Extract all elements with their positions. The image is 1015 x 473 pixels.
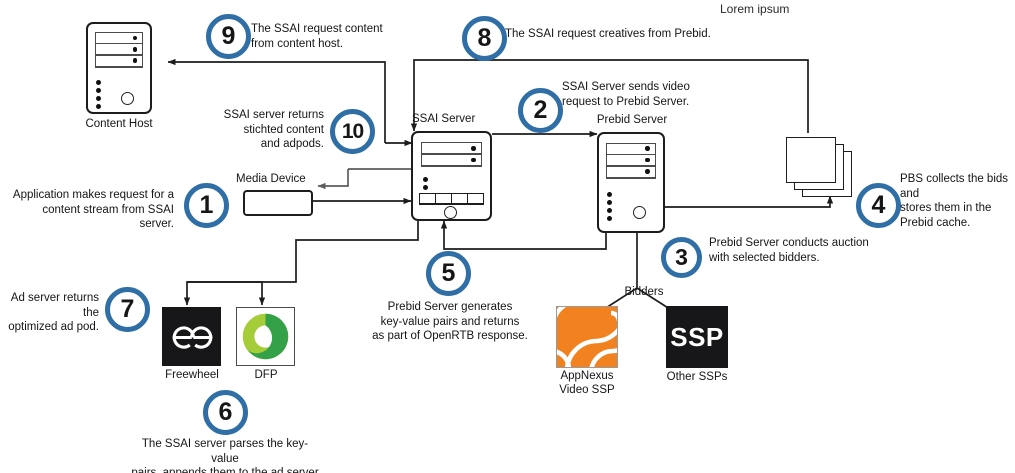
appnexus-mark: [557, 307, 618, 368]
server-led: [607, 216, 612, 221]
other-ssps-logo[interactable]: SSP: [666, 306, 728, 368]
step-caption-10: SSAI server returns stichted content and…: [200, 108, 324, 152]
dfp-mark: [237, 308, 294, 365]
ssp-logo-text: SSP: [670, 322, 724, 353]
freewheel-logo[interactable]: [162, 307, 221, 366]
header-note: Lorem ipsum: [720, 2, 789, 16]
step-caption-8: The SSAI request creatives from Prebid.: [505, 27, 755, 42]
ssai-server-label: SSAI Server: [412, 112, 502, 126]
server-power-knob: [633, 206, 646, 219]
media-device-node[interactable]: [243, 190, 313, 216]
server-led: [96, 80, 101, 85]
server-led: [96, 88, 101, 93]
server-led: [423, 177, 428, 182]
freewheel-label: Freewheel: [153, 368, 231, 382]
media-device-label: Media Device: [236, 172, 322, 186]
dfp-label: DFP: [241, 368, 291, 382]
server-bay: [606, 166, 656, 179]
step-caption-9: The SSAI request content from content ho…: [251, 22, 416, 51]
step-caption-1: Application makes request for a content …: [6, 188, 174, 232]
other-ssps-label: Other SSPs: [655, 370, 739, 384]
server-led: [423, 185, 428, 190]
server-bay: [421, 154, 481, 167]
cache-sheet-front: [786, 137, 836, 183]
server-led: [607, 208, 612, 213]
step-caption-2: SSAI Server sends video request to Prebi…: [562, 80, 747, 109]
prebid-cache-node[interactable]: [786, 137, 858, 199]
server-power-knob: [121, 92, 134, 105]
appnexus-logo[interactable]: [556, 306, 618, 368]
server-power-knob: [444, 206, 457, 219]
step-badge-10[interactable]: 10: [330, 109, 375, 154]
ssai-server-node[interactable]: [411, 131, 492, 221]
bidders-edge-label: Bidders: [614, 285, 674, 299]
content-host-node[interactable]: [86, 22, 152, 114]
step-caption-4: PBS collects the bids and stores them in…: [900, 172, 1015, 231]
step-caption-5: Prebid Server generates key-value pairs …: [370, 300, 530, 344]
content-host-label: Content Host: [66, 117, 172, 131]
step-badge-2[interactable]: 2: [518, 88, 563, 133]
server-bay: [95, 55, 143, 68]
prebid-server-node[interactable]: [597, 132, 665, 233]
freewheel-mark: [163, 308, 221, 366]
server-slot-strip: [419, 193, 484, 205]
server-led: [607, 200, 612, 205]
step-caption-7: Ad server returns the optimized ad pod.: [0, 291, 99, 335]
step-caption-6: The SSAI server parses the key-value pai…: [130, 437, 320, 473]
step-badge-4[interactable]: 4: [856, 183, 901, 228]
step-badge-5[interactable]: 5: [426, 251, 471, 296]
server-led: [607, 192, 612, 197]
step-badge-8[interactable]: 8: [462, 16, 507, 61]
server-led: [96, 96, 101, 101]
step-caption-3: Prebid Server conducts auction with sele…: [709, 236, 909, 265]
step-badge-9[interactable]: 9: [206, 14, 251, 59]
dfp-logo[interactable]: [236, 307, 295, 366]
step-badge-6[interactable]: 6: [203, 390, 248, 435]
step-badge-1[interactable]: 1: [184, 183, 229, 228]
step-badge-7[interactable]: 7: [105, 287, 150, 332]
prebid-server-label: Prebid Server: [586, 113, 678, 127]
diagram-canvas: Lorem ipsum: [0, 0, 1015, 473]
server-led: [96, 104, 101, 109]
appnexus-label: AppNexus Video SSP: [541, 369, 633, 398]
step-badge-3[interactable]: 3: [661, 237, 702, 278]
